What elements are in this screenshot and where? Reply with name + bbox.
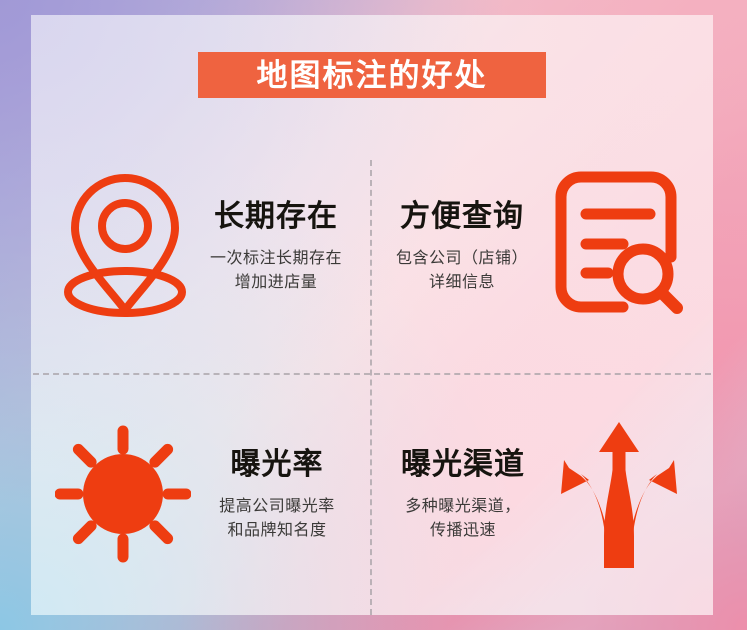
poster-background: 地图标注的好处 长期存在 一次标注长期存在 — [0, 0, 747, 630]
benefit-description-line2: 详细信息 — [381, 271, 543, 295]
benefit-item-long-term: 长期存在 一次标注长期存在 增加进店量 — [31, 115, 371, 373]
title-banner: 地图标注的好处 — [198, 52, 546, 98]
sun-icon — [53, 423, 193, 565]
benefit-heading: 方便查询 — [381, 200, 543, 233]
benefit-text-long-term: 长期存在 一次标注长期存在 增加进店量 — [191, 194, 361, 295]
branching-arrows-icon — [549, 418, 689, 570]
benefit-description-line2: 和品牌知名度 — [197, 519, 357, 543]
benefit-heading: 曝光率 — [197, 448, 357, 481]
benefit-description: 一次标注长期存在 增加进店量 — [195, 247, 357, 295]
benefits-grid: 长期存在 一次标注长期存在 增加进店量 — [31, 115, 713, 615]
benefit-description-line2: 传播迅速 — [381, 519, 545, 543]
page-title: 地图标注的好处 — [257, 60, 488, 91]
benefit-text-easy-query: 方便查询 包含公司（店铺） 详细信息 — [377, 194, 547, 295]
benefit-description-line2: 增加进店量 — [195, 271, 357, 295]
document-search-icon — [547, 169, 691, 319]
benefit-text-exposure-rate: 曝光率 提高公司曝光率 和品牌知名度 — [193, 446, 361, 543]
location-pin-icon — [59, 170, 191, 318]
benefit-description: 包含公司（店铺） 详细信息 — [381, 247, 543, 295]
benefit-description: 提高公司曝光率 和品牌知名度 — [197, 495, 357, 543]
benefit-text-exposure-channels: 曝光渠道 多种曝光渠道， 传播迅速 — [377, 446, 549, 543]
benefit-description: 多种曝光渠道， 传播迅速 — [381, 495, 545, 543]
benefit-description-line1: 多种曝光渠道， — [381, 495, 545, 519]
benefit-item-exposure-rate: 曝光率 提高公司曝光率 和品牌知名度 — [31, 373, 371, 615]
poster-card: 地图标注的好处 长期存在 一次标注长期存在 — [31, 15, 713, 615]
benefit-item-exposure-channels: 曝光渠道 多种曝光渠道， 传播迅速 — [371, 373, 713, 615]
benefit-description-line1: 一次标注长期存在 — [195, 247, 357, 271]
benefit-heading: 长期存在 — [195, 200, 357, 233]
benefit-item-easy-query: 方便查询 包含公司（店铺） 详细信息 — [371, 115, 713, 373]
benefit-description-line1: 提高公司曝光率 — [197, 495, 357, 519]
benefit-description-line1: 包含公司（店铺） — [381, 247, 543, 271]
benefit-heading: 曝光渠道 — [381, 448, 545, 481]
